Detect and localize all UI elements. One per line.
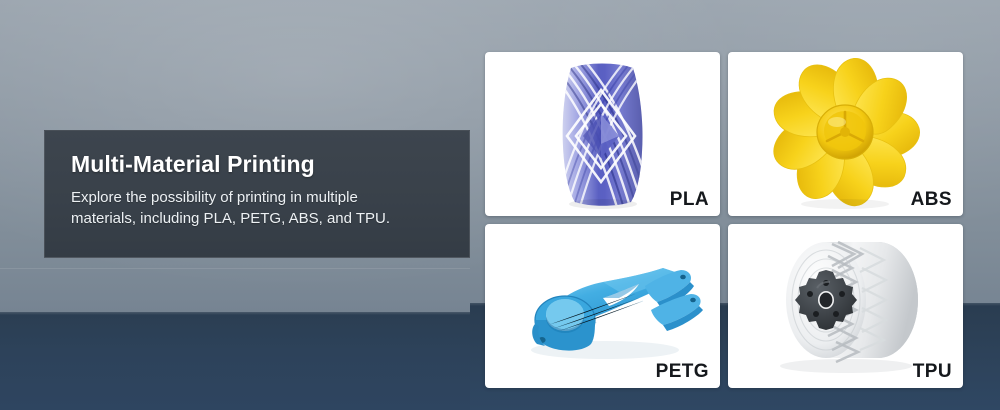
material-card-label-tpu: TPU	[913, 361, 952, 383]
text-panel: Multi-Material Printing Explore the poss…	[44, 130, 470, 258]
page-subtitle: Explore the possibility of printing in m…	[71, 187, 443, 229]
material-card-abs[interactable]: ABS	[728, 52, 963, 216]
subtitle-line-2: materials, including PLA, PETG, ABS, and…	[71, 208, 443, 229]
background-wall-seam	[0, 268, 470, 269]
subtitle-line-1: Explore the possibility of printing in m…	[71, 187, 443, 208]
material-card-label-pla: PLA	[670, 189, 709, 211]
material-card-tpu[interactable]: TPU	[728, 224, 963, 388]
material-card-pla[interactable]: PLA	[485, 52, 720, 216]
material-card-petg[interactable]: PETG	[485, 224, 720, 388]
material-card-label-abs: ABS	[911, 189, 952, 211]
page-title: Multi-Material Printing	[71, 150, 443, 178]
background-floor-left	[0, 312, 470, 410]
material-card-label-petg: PETG	[656, 361, 709, 383]
promo-banner: Multi-Material Printing Explore the poss…	[0, 0, 1000, 410]
material-card-grid: PLA	[485, 52, 963, 392]
